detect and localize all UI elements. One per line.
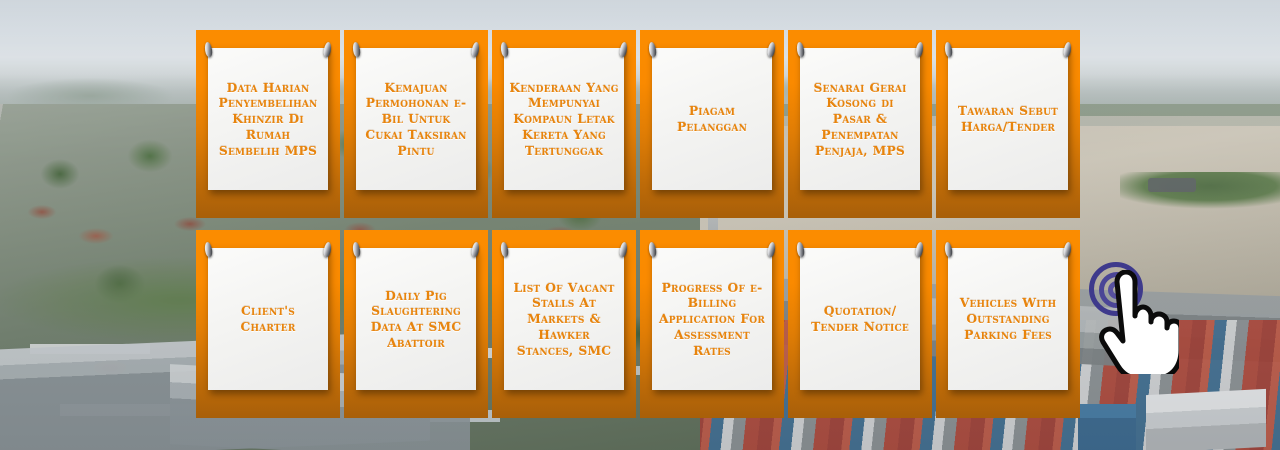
card-paper: Data Harian Penyembelihan Khinzir Di Rum… (208, 48, 328, 190)
card-title: Client's Charter (213, 303, 323, 334)
service-card-tawaran-sebut-harga-tender[interactable]: Tawaran Sebut Harga/Tender (936, 30, 1080, 218)
card-title: Piagam Pelanggan (657, 103, 767, 134)
card-title: Senarai Gerai Kosong di Pasar & Penempat… (805, 80, 915, 159)
card-paper: Vehicles With Outstanding Parking Fees (948, 248, 1068, 390)
card-paper: Piagam Pelanggan (652, 48, 772, 190)
pin-icon-right (1063, 242, 1072, 258)
card-title: Kenderaan Yang Mempunyai Kompaun Letak K… (509, 80, 619, 159)
pin-icon-left (648, 42, 657, 58)
pin-icon-left (944, 42, 953, 58)
pin-icon-right (1063, 42, 1072, 58)
pin-icon-left (500, 42, 509, 58)
card-paper: Progress Of e-Billing Application For As… (652, 248, 772, 390)
card-paper: List Of Vacant Stalls At Markets & Hawke… (504, 248, 624, 390)
pin-icon-left (796, 42, 805, 58)
card-title: Quotation/ Tender Notice (805, 303, 915, 334)
pin-icon-left (796, 242, 805, 258)
pin-icon-right (619, 42, 628, 58)
pin-icon-right (471, 42, 480, 58)
card-title: Daily Pig Slaughtering Data At SMC Abatt… (361, 288, 471, 351)
pin-icon-left (204, 242, 213, 258)
service-card-grid: Data Harian Penyembelihan Khinzir Di Rum… (196, 30, 1084, 418)
pin-icon-right (767, 242, 776, 258)
pin-icon-left (648, 242, 657, 258)
service-card-list-of-vacant-stalls[interactable]: List Of Vacant Stalls At Markets & Hawke… (492, 230, 636, 418)
service-card-vehicles-outstanding-parking-fees[interactable]: Vehicles With Outstanding Parking Fees (936, 230, 1080, 418)
card-paper: Kenderaan Yang Mempunyai Kompaun Letak K… (504, 48, 624, 190)
pin-icon-right (915, 242, 924, 258)
card-paper: Quotation/ Tender Notice (800, 248, 920, 390)
card-title: Tawaran Sebut Harga/Tender (953, 103, 1063, 134)
pin-icon-right (767, 42, 776, 58)
card-paper: Kemajuan Permohonan e-Bil Untuk Cukai Ta… (356, 48, 476, 190)
card-paper: Tawaran Sebut Harga/Tender (948, 48, 1068, 190)
card-paper: Daily Pig Slaughtering Data At SMC Abatt… (356, 248, 476, 390)
pin-icon-right (915, 42, 924, 58)
service-card-daily-pig-slaughtering-data[interactable]: Daily Pig Slaughtering Data At SMC Abatt… (344, 230, 488, 418)
service-card-piagam-pelanggan[interactable]: Piagam Pelanggan (640, 30, 784, 218)
pin-icon-right (471, 242, 480, 258)
pin-icon-right (323, 42, 332, 58)
card-title: Kemajuan Permohonan e-Bil Untuk Cukai Ta… (361, 80, 471, 159)
service-card-data-harian-penyembelihan[interactable]: Data Harian Penyembelihan Khinzir Di Rum… (196, 30, 340, 218)
pin-icon-left (944, 242, 953, 258)
service-card-kemajuan-permohonan-ebil[interactable]: Kemajuan Permohonan e-Bil Untuk Cukai Ta… (344, 30, 488, 218)
service-card-clients-charter[interactable]: Client's Charter (196, 230, 340, 418)
pin-icon-left (352, 242, 361, 258)
card-title: Progress Of e-Billing Application For As… (657, 280, 767, 359)
pin-icon-left (500, 242, 509, 258)
service-card-kenderaan-kompaun-letak-kereta[interactable]: Kenderaan Yang Mempunyai Kompaun Letak K… (492, 30, 636, 218)
pin-icon-right (323, 242, 332, 258)
card-paper: Senarai Gerai Kosong di Pasar & Penempat… (800, 48, 920, 190)
card-title: List Of Vacant Stalls At Markets & Hawke… (509, 280, 619, 359)
card-paper: Client's Charter (208, 248, 328, 390)
pin-icon-right (619, 242, 628, 258)
page-stage: Data Harian Penyembelihan Khinzir Di Rum… (0, 0, 1280, 450)
service-card-quotation-tender-notice[interactable]: Quotation/ Tender Notice (788, 230, 932, 418)
card-title: Data Harian Penyembelihan Khinzir Di Rum… (213, 80, 323, 159)
card-title: Vehicles With Outstanding Parking Fees (953, 295, 1063, 342)
pin-icon-left (204, 42, 213, 58)
service-card-progress-of-ebilling[interactable]: Progress Of e-Billing Application For As… (640, 230, 784, 418)
pin-icon-left (352, 42, 361, 58)
service-card-senarai-gerai-kosong[interactable]: Senarai Gerai Kosong di Pasar & Penempat… (788, 30, 932, 218)
